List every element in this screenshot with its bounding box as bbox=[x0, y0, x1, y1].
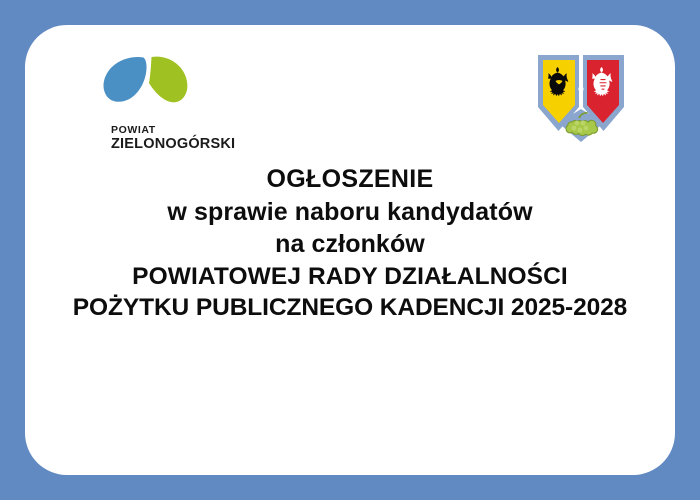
poster-card: POWIAT ZIELONOGÓRSKI bbox=[25, 25, 675, 475]
logo-line-zielonogorski: ZIELONOGÓRSKI bbox=[111, 137, 235, 152]
logo-leaf-shapes-icon bbox=[88, 53, 218, 111]
announcement-poster: POWIAT ZIELONOGÓRSKI bbox=[0, 0, 700, 500]
logo-blue-leaf-icon bbox=[104, 57, 147, 102]
grape-berry bbox=[572, 126, 577, 131]
grape-berry bbox=[575, 121, 579, 125]
headline-line-4: POWIATOWEJ RADY DZIAŁALNOŚCI bbox=[25, 261, 675, 293]
powiat-zielonogorski-coat-of-arms bbox=[521, 45, 641, 155]
grape-berry bbox=[584, 126, 589, 131]
logo-green-leaf-icon bbox=[149, 57, 187, 103]
headline-line-3: na członków bbox=[25, 228, 675, 261]
coat-of-arms-icon bbox=[521, 45, 641, 155]
powiat-zielonogorski-logo: POWIAT ZIELONOGÓRSKI bbox=[88, 53, 218, 153]
logo-line-powiat: POWIAT bbox=[111, 125, 235, 136]
announcement-headline: OGŁOSZENIE w sprawie naboru kandydatów n… bbox=[25, 163, 675, 324]
headline-line-1: OGŁOSZENIE bbox=[25, 163, 675, 196]
grape-berry bbox=[578, 128, 583, 133]
logo-wordmark: POWIAT ZIELONOGÓRSKI bbox=[111, 125, 235, 151]
headline-line-2: w sprawie naboru kandydatów bbox=[25, 196, 675, 229]
headline-line-5: POŻYTKU PUBLICZNEGO KADENCJI 2025-2028 bbox=[25, 292, 675, 324]
coat-center-pearl bbox=[578, 86, 583, 91]
grape-berry bbox=[581, 121, 586, 126]
logo-marks bbox=[88, 53, 218, 108]
